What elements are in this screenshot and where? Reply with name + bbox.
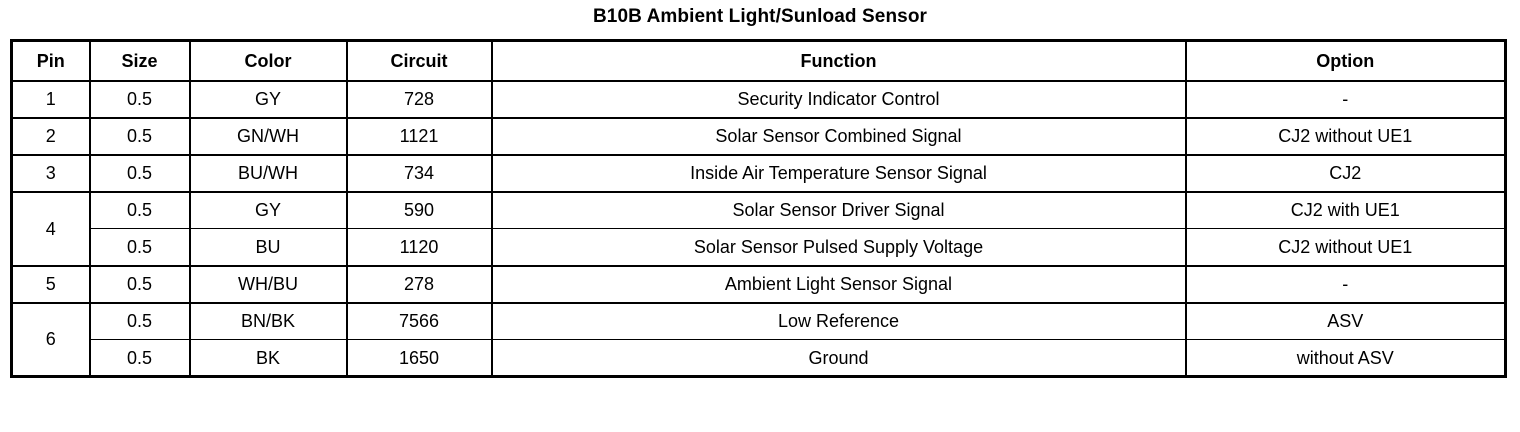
cell-color: BN/BK <box>190 303 347 340</box>
cell-circuit: 1120 <box>347 229 492 266</box>
cell-size: 0.5 <box>90 229 190 266</box>
cell-pin: 2 <box>12 118 90 155</box>
table-row: 0.5BU1120Solar Sensor Pulsed Supply Volt… <box>12 229 1506 266</box>
cell-circuit: 1121 <box>347 118 492 155</box>
cell-function: Security Indicator Control <box>492 81 1186 118</box>
table-header-row: Pin Size Color Circuit Function Option <box>12 41 1506 81</box>
cell-option: CJ2 with UE1 <box>1186 192 1506 229</box>
cell-pin: 4 <box>12 192 90 266</box>
table-row: 10.5GY728Security Indicator Control- <box>12 81 1506 118</box>
cell-circuit: 590 <box>347 192 492 229</box>
cell-color: GY <box>190 81 347 118</box>
cell-color: BK <box>190 340 347 377</box>
cell-option: ASV <box>1186 303 1506 340</box>
table-row: 50.5WH/BU278Ambient Light Sensor Signal- <box>12 266 1506 303</box>
page-title: B10B Ambient Light/Sunload Sensor <box>0 0 1520 26</box>
table-row: 0.5BK1650Groundwithout ASV <box>12 340 1506 377</box>
cell-size: 0.5 <box>90 155 190 192</box>
cell-size: 0.5 <box>90 118 190 155</box>
cell-size: 0.5 <box>90 340 190 377</box>
cell-color: BU <box>190 229 347 266</box>
cell-option: - <box>1186 81 1506 118</box>
table-row: 40.5GY590Solar Sensor Driver SignalCJ2 w… <box>12 192 1506 229</box>
cell-option: CJ2 without UE1 <box>1186 118 1506 155</box>
cell-function: Ambient Light Sensor Signal <box>492 266 1186 303</box>
cell-color: BU/WH <box>190 155 347 192</box>
cell-option: - <box>1186 266 1506 303</box>
cell-circuit: 734 <box>347 155 492 192</box>
cell-size: 0.5 <box>90 192 190 229</box>
cell-option: without ASV <box>1186 340 1506 377</box>
column-header-circuit: Circuit <box>347 41 492 81</box>
pinout-table-container: Pin Size Color Circuit Function Option 1… <box>0 26 1520 378</box>
cell-circuit: 7566 <box>347 303 492 340</box>
cell-size: 0.5 <box>90 266 190 303</box>
cell-function: Solar Sensor Pulsed Supply Voltage <box>492 229 1186 266</box>
cell-function: Inside Air Temperature Sensor Signal <box>492 155 1186 192</box>
table-row: 30.5BU/WH734Inside Air Temperature Senso… <box>12 155 1506 192</box>
cell-color: GN/WH <box>190 118 347 155</box>
cell-function: Solar Sensor Combined Signal <box>492 118 1186 155</box>
cell-option: CJ2 without UE1 <box>1186 229 1506 266</box>
cell-circuit: 278 <box>347 266 492 303</box>
cell-color: WH/BU <box>190 266 347 303</box>
pinout-table: Pin Size Color Circuit Function Option 1… <box>10 39 1507 378</box>
column-header-pin: Pin <box>12 41 90 81</box>
cell-function: Solar Sensor Driver Signal <box>492 192 1186 229</box>
cell-function: Ground <box>492 340 1186 377</box>
cell-circuit: 728 <box>347 81 492 118</box>
cell-option: CJ2 <box>1186 155 1506 192</box>
cell-pin: 6 <box>12 303 90 377</box>
cell-pin: 1 <box>12 81 90 118</box>
cell-circuit: 1650 <box>347 340 492 377</box>
cell-pin: 3 <box>12 155 90 192</box>
column-header-color: Color <box>190 41 347 81</box>
cell-function: Low Reference <box>492 303 1186 340</box>
cell-size: 0.5 <box>90 81 190 118</box>
cell-size: 0.5 <box>90 303 190 340</box>
pinout-table-body: 10.5GY728Security Indicator Control-20.5… <box>12 81 1506 377</box>
cell-color: GY <box>190 192 347 229</box>
table-row: 60.5BN/BK7566Low ReferenceASV <box>12 303 1506 340</box>
column-header-option: Option <box>1186 41 1506 81</box>
column-header-size: Size <box>90 41 190 81</box>
column-header-function: Function <box>492 41 1186 81</box>
table-row: 20.5GN/WH1121Solar Sensor Combined Signa… <box>12 118 1506 155</box>
cell-pin: 5 <box>12 266 90 303</box>
